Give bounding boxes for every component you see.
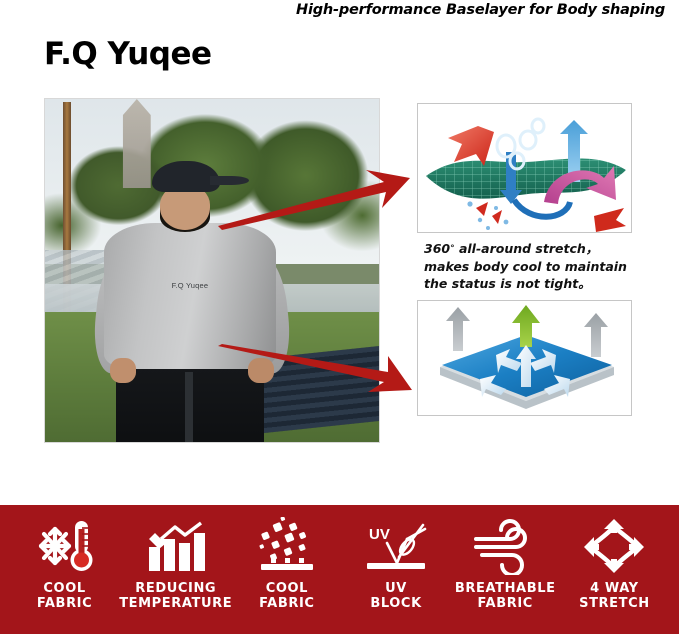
feature-uv-block: UV UV BLOCK: [341, 515, 450, 611]
feature-breathable-fabric: BREATHABLE FABRIC: [451, 515, 560, 611]
breathable-diagram-art: [418, 301, 632, 416]
snowflake-thermometer-icon: [35, 515, 95, 577]
airflow-wind-icon: [472, 515, 538, 577]
feature-label: COOL FABRIC: [37, 581, 92, 611]
stretch-diagram-art: [418, 104, 632, 233]
feature-label: COOL FABRIC: [259, 581, 314, 611]
feature-cool-fabric-thermometer: COOL FABRIC: [10, 515, 119, 611]
feature-4-way-stretch: 4 WAY STRETCH: [560, 515, 669, 611]
feature-label: REDUCING TEMPERATURE: [119, 581, 232, 611]
breathable-fabric-diagram: [417, 300, 632, 416]
caption-line-3: the status is not tight。: [424, 276, 591, 291]
360-degree-stretch-diagram: [417, 103, 632, 233]
feature-label: 4 WAY STRETCH: [579, 581, 650, 611]
chest-logo-text: F.Q Yuqee: [142, 281, 239, 290]
feature-label: BREATHABLE FABRIC: [455, 581, 556, 611]
model-left-hand: [110, 358, 136, 383]
feature-banner: COOL FABRIC REDUCING TEMPERATURE: [0, 505, 679, 634]
svg-text:UV: UV: [369, 526, 390, 543]
stretch-caption: 360° all-around stretch， makes body cool…: [424, 240, 664, 292]
brand-title: F.Q Yuqee: [44, 36, 212, 72]
feature-reducing-temperature: REDUCING TEMPERATURE: [119, 515, 232, 611]
declining-bar-chart-icon: [145, 515, 207, 577]
feature-cool-fabric-droplets: COOL FABRIC: [232, 515, 341, 611]
page-tagline: High-performance Baselayer for Body shap…: [296, 2, 665, 18]
pointer-arrow-to-breathable-diagram: [216, 344, 412, 396]
caption-degree-value: 360: [424, 241, 450, 256]
feature-label: UV BLOCK: [370, 581, 421, 611]
water-droplets-icon: [257, 515, 317, 577]
caption-line-2: makes body cool to maintain: [424, 259, 627, 274]
uv-block-icon: UV: [363, 515, 429, 577]
caption-line-1: all-around stretch，: [455, 241, 599, 256]
pointer-arrow-to-stretch-diagram: [216, 168, 412, 230]
model-cap: [152, 161, 220, 192]
four-way-stretch-icon: [582, 515, 646, 577]
